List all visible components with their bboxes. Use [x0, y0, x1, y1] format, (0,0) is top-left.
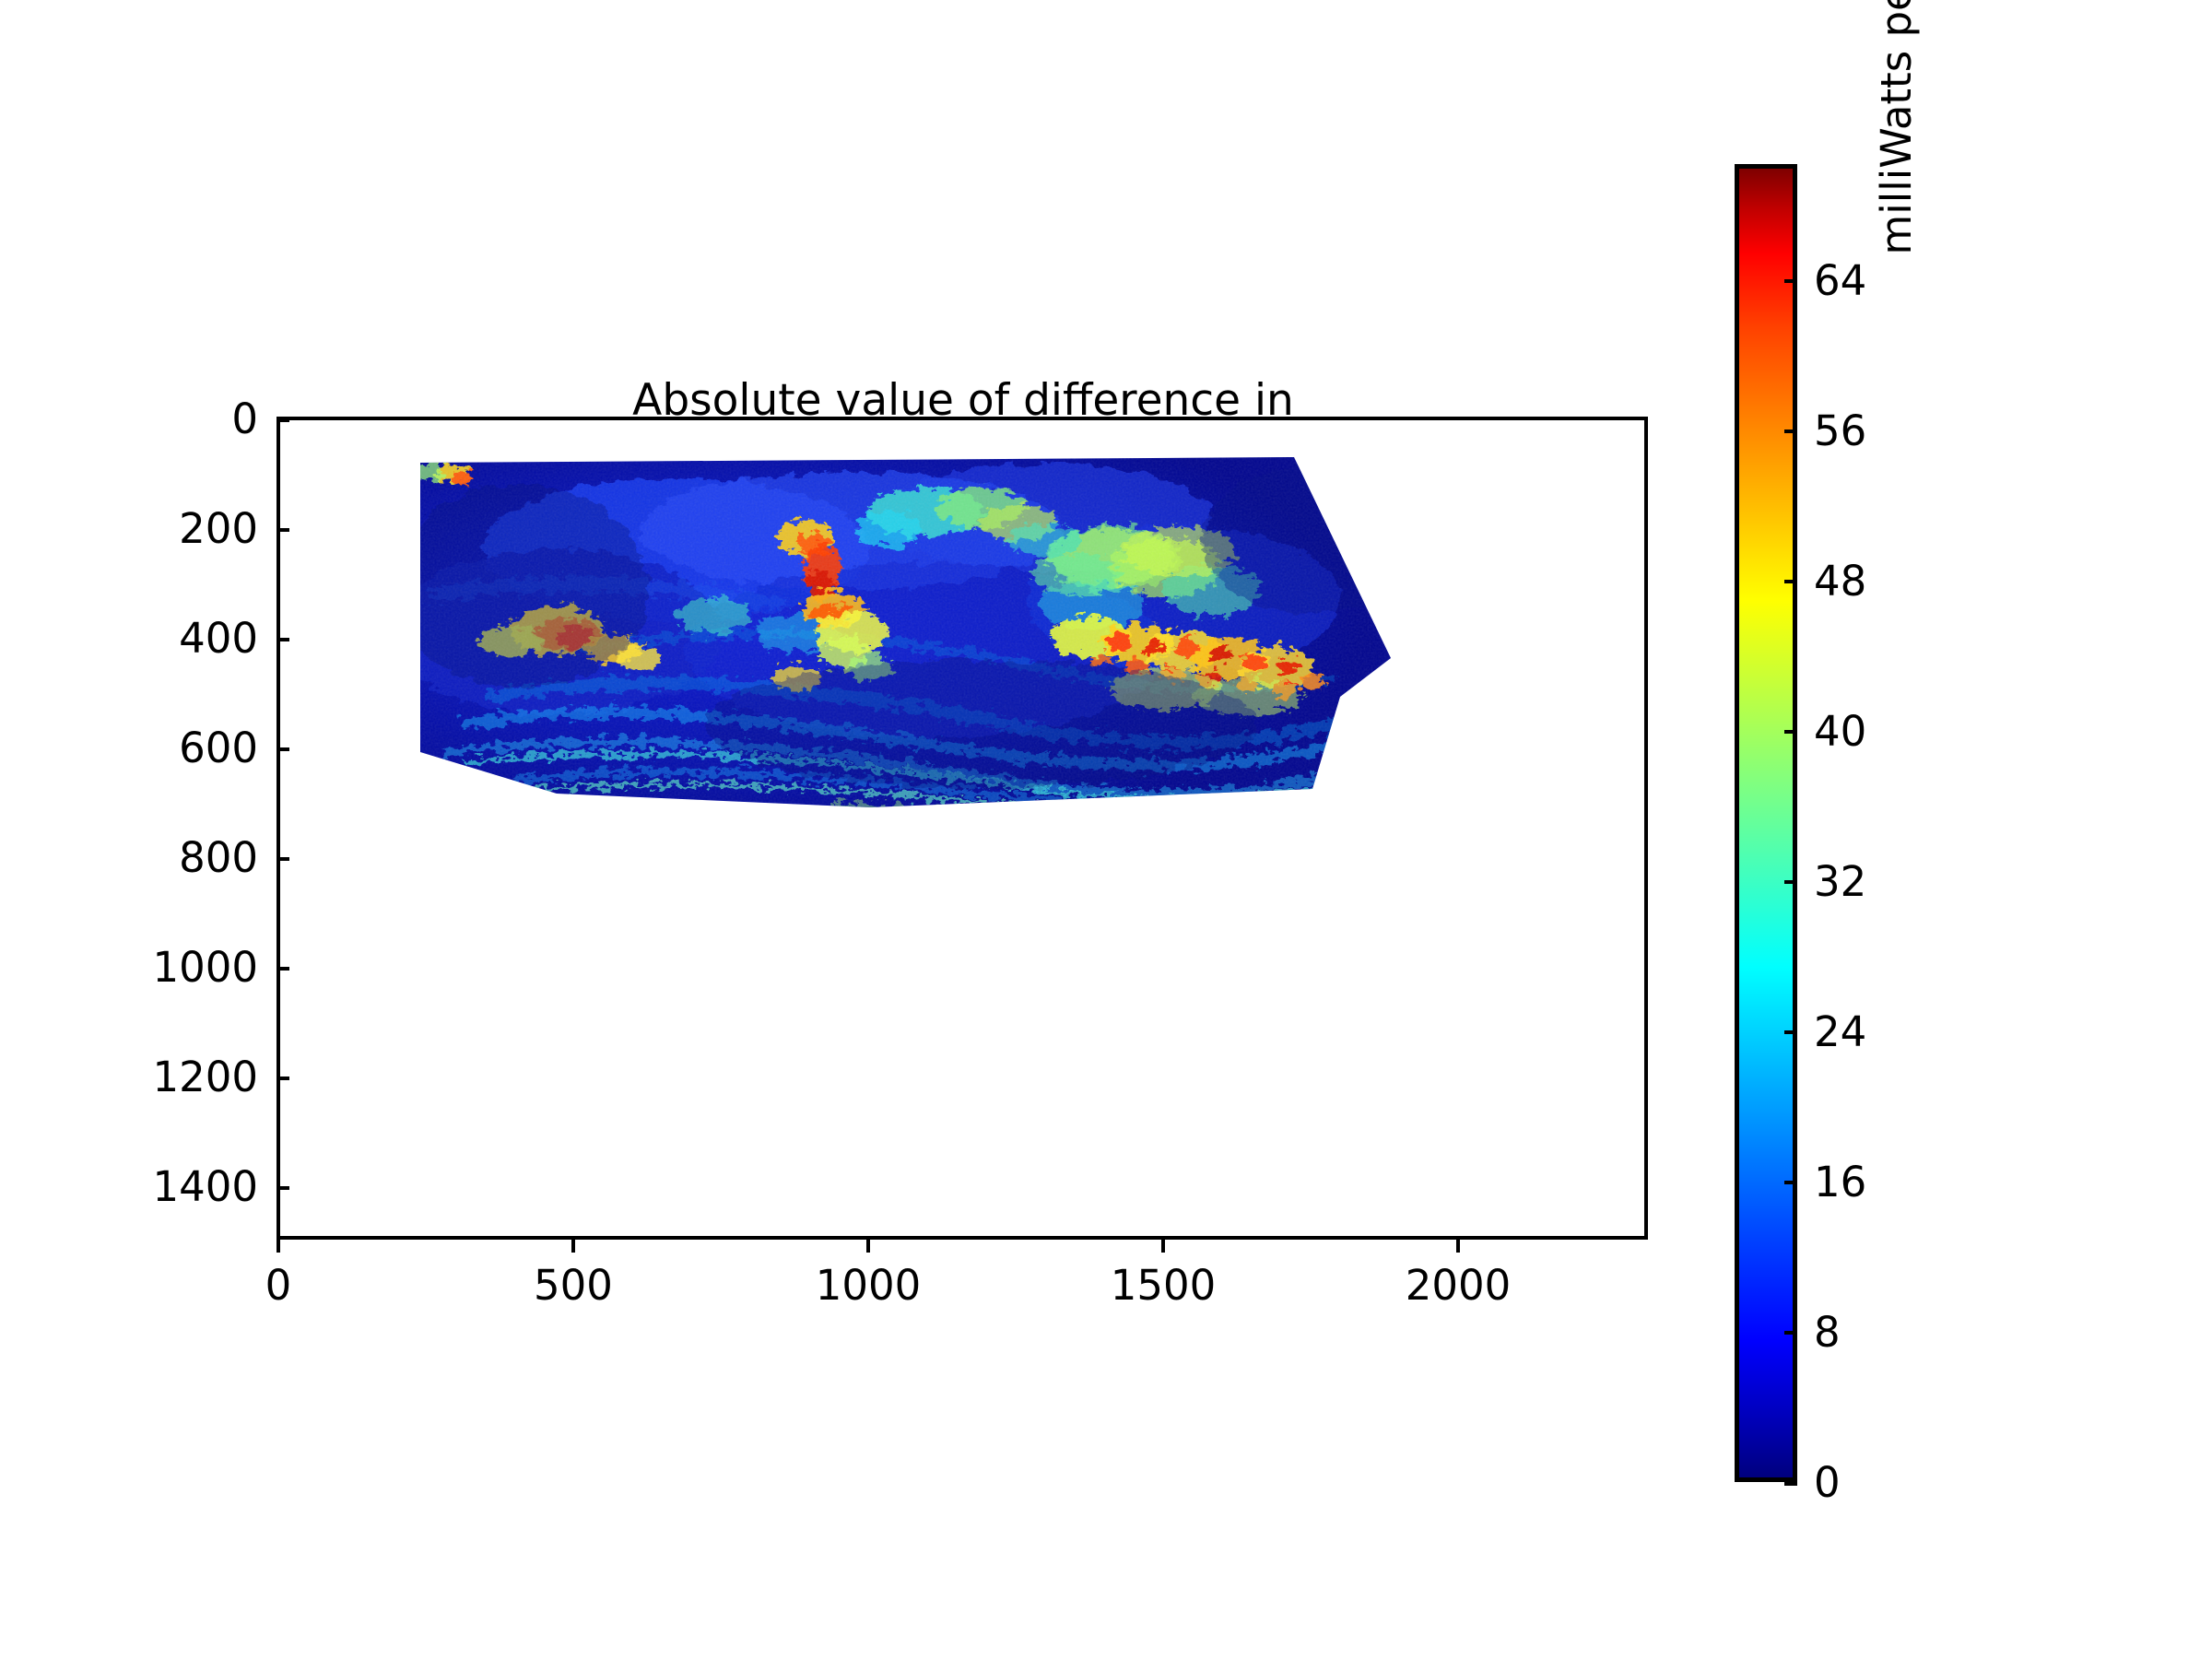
y-tick-mark	[276, 1186, 289, 1190]
satellite-heatmap-image	[280, 420, 1644, 1236]
y-tick-mark	[276, 967, 289, 971]
x-tick-mark	[276, 1240, 280, 1253]
x-tick-label-1500: 1500	[1062, 1261, 1265, 1310]
y-tick-mark	[276, 1077, 289, 1080]
y-tick-mark	[276, 528, 289, 532]
colorbar-tick-mark	[1784, 1331, 1797, 1335]
colorbar-tick-label-8: 8	[1814, 1308, 1841, 1357]
colorbar-tick-mark	[1784, 580, 1797, 583]
x-tick-label-500: 500	[472, 1261, 675, 1310]
colorbar	[1735, 164, 1797, 1482]
heatmap-svg	[280, 420, 1644, 1236]
y-tick-label-600: 600	[55, 724, 258, 772]
figure-canvas: Absolute value of difference in ABI_Rad_…	[0, 0, 2212, 1659]
colorbar-tick-mark	[1784, 279, 1797, 283]
colorbar-tick-label-56: 56	[1814, 406, 1866, 455]
y-tick-label-1200: 1200	[55, 1053, 258, 1101]
colorbar-tick-label-40: 40	[1814, 707, 1866, 756]
colorbar-tick-mark	[1784, 1030, 1797, 1034]
x-tick-mark	[1456, 1240, 1460, 1253]
y-tick-label-200: 200	[55, 504, 258, 553]
colorbar-tick-mark	[1784, 429, 1797, 433]
plot-axes	[276, 417, 1648, 1240]
y-tick-label-800: 800	[55, 833, 258, 882]
colorbar-tick-label-24: 24	[1814, 1007, 1866, 1056]
x-tick-mark	[866, 1240, 870, 1253]
x-tick-label-2000: 2000	[1357, 1261, 1559, 1310]
colorbar-tick-label-64: 64	[1814, 256, 1866, 305]
x-tick-mark	[571, 1240, 575, 1253]
colorbar-gradient	[1735, 164, 1797, 1482]
colorbar-tick-mark	[1784, 880, 1797, 884]
colorbar-tick-label-32: 32	[1814, 857, 1866, 906]
colorbar-axis-label: milliWatts per meter squared per steradi…	[1860, 0, 1934, 290]
colorbar-tick-mark	[1784, 730, 1797, 734]
y-tick-mark	[276, 418, 289, 422]
y-tick-label-1000: 1000	[55, 943, 258, 992]
y-tick-label-1400: 1400	[55, 1162, 258, 1211]
y-tick-label-0: 0	[55, 394, 258, 443]
y-tick-label-400: 400	[55, 614, 258, 663]
x-tick-label-0: 0	[177, 1261, 380, 1310]
colorbar-tick-label-48: 48	[1814, 557, 1866, 606]
colorbar-tick-label-16: 16	[1814, 1158, 1866, 1206]
colorbar-tick-mark	[1784, 1482, 1797, 1486]
x-tick-mark	[1161, 1240, 1165, 1253]
y-tick-mark	[276, 857, 289, 861]
colorbar-tick-label-0: 0	[1814, 1458, 1841, 1507]
y-tick-mark	[276, 747, 289, 751]
x-tick-label-1000: 1000	[767, 1261, 970, 1310]
y-tick-mark	[276, 638, 289, 641]
colorbar-tick-mark	[1784, 1181, 1797, 1184]
